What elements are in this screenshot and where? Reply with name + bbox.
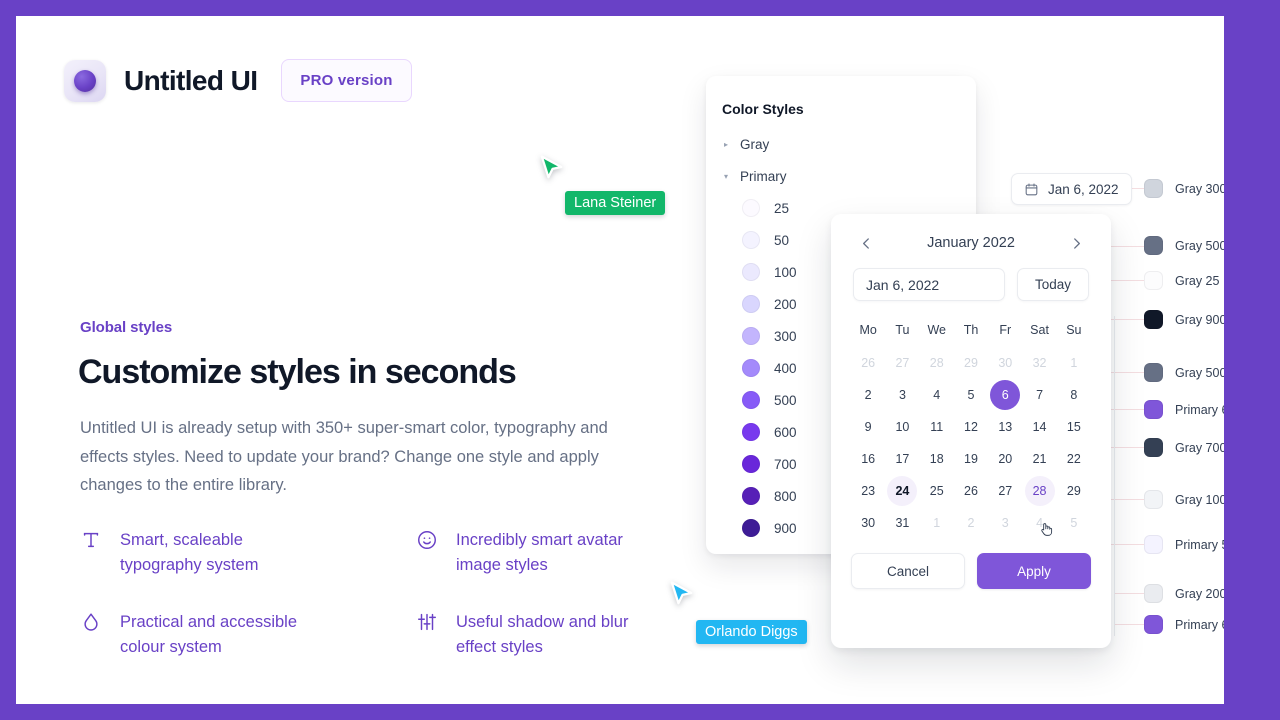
- swatch-color-dot: [742, 487, 760, 505]
- calendar-day-label: 24: [887, 476, 917, 506]
- calendar-day-cell[interactable]: 32: [1022, 347, 1056, 379]
- date-display-chip[interactable]: Jan 6, 2022: [1011, 173, 1132, 205]
- calendar-weekday: Mo: [851, 315, 885, 347]
- chevron-left-icon[interactable]: [855, 232, 877, 254]
- chevron-right-icon[interactable]: [1065, 232, 1087, 254]
- calendar-weeks: 2627282930321234567891011121314151617181…: [851, 347, 1091, 539]
- calendar-weekday: We: [920, 315, 954, 347]
- feature-item-avatar: Incredibly smart avatar image styles: [416, 528, 640, 578]
- calendar-day-cell[interactable]: 23: [851, 475, 885, 507]
- calendar-day-label: 29: [956, 348, 986, 378]
- legend-item[interactable]: Primary 50: [1144, 535, 1224, 554]
- calendar-day-cell[interactable]: 31: [885, 507, 919, 539]
- calendar-day-label: 21: [1025, 444, 1055, 474]
- collaborator-tag-orlando: Orlando Diggs: [696, 620, 807, 644]
- calendar-week-row: 303112345: [851, 507, 1091, 539]
- calendar-icon: [1024, 182, 1039, 197]
- swatch-label: 25: [774, 201, 789, 216]
- calendar-day-cell[interactable]: 12: [954, 411, 988, 443]
- legend-item[interactable]: Gray 500: [1144, 363, 1224, 382]
- calendar-day-cell[interactable]: 5: [954, 379, 988, 411]
- connector-line: [1114, 593, 1148, 594]
- swatch-color-dot: [742, 391, 760, 409]
- calendar-day-cell[interactable]: 19: [954, 443, 988, 475]
- calendar-day-cell[interactable]: 28: [1022, 475, 1056, 507]
- brand-name: Untitled UI: [124, 65, 257, 97]
- feature-item-typography: Smart, scaleable typography system: [80, 528, 416, 578]
- swatch-label: 800: [774, 489, 797, 504]
- calendar-day-label: 28: [922, 348, 952, 378]
- calendar-day-cell[interactable]: 29: [1057, 475, 1091, 507]
- calendar-day-label: 9: [853, 412, 883, 442]
- legend-item[interactable]: Gray 200: [1144, 584, 1224, 603]
- chevron-down-icon[interactable]: [718, 168, 734, 184]
- smiley-icon: [416, 529, 438, 551]
- brand-header: Untitled UI PRO version: [64, 59, 412, 102]
- calendar-day-label: 27: [990, 476, 1020, 506]
- legend-color-chip: [1144, 179, 1163, 198]
- apply-button[interactable]: Apply: [977, 553, 1091, 589]
- legend-label: Gray 500: [1175, 239, 1224, 253]
- legend-color-chip: [1144, 271, 1163, 290]
- droplet-icon: [80, 611, 102, 633]
- calendar-day-cell[interactable]: 1: [1057, 347, 1091, 379]
- legend-item[interactable]: Primary 600: [1144, 615, 1224, 634]
- calendar-weekday-row: MoTuWeThFrSatSu: [851, 315, 1091, 347]
- legend-color-chip: [1144, 310, 1163, 329]
- calendar-day-label: 15: [1059, 412, 1089, 442]
- swatch-color-dot: [742, 231, 760, 249]
- connector-line-vertical: [1114, 316, 1115, 636]
- swatch-color-dot: [742, 327, 760, 345]
- legend-color-chip: [1144, 490, 1163, 509]
- calendar-day-cell[interactable]: 30: [851, 507, 885, 539]
- swatch-color-dot: [742, 295, 760, 313]
- legend-color-chip: [1144, 584, 1163, 603]
- calendar-weekday: Sat: [1022, 315, 1056, 347]
- calendar-day-cell[interactable]: 11: [920, 411, 954, 443]
- calendar-day-label: 6: [990, 380, 1020, 410]
- calendar-day-label: 30: [853, 508, 883, 538]
- date-picker: January 2022 Jan 6, 2022 Today MoTuWeThF…: [831, 214, 1111, 648]
- calendar-day-cell[interactable]: 10: [885, 411, 919, 443]
- color-legend: Gray 300Gray 500Gray 25Gray 900Gray 500P…: [1144, 16, 1224, 704]
- swatch-label: 700: [774, 457, 797, 472]
- calendar-day-cell[interactable]: 27: [885, 347, 919, 379]
- calendar-day-label: 14: [1025, 412, 1055, 442]
- swatch-label: 900: [774, 521, 797, 536]
- sliders-icon: [416, 611, 438, 633]
- calendar-week-row: 2627282930321: [851, 347, 1091, 379]
- calendar-day-cell[interactable]: 21: [1022, 443, 1056, 475]
- legend-item[interactable]: Gray 500: [1144, 236, 1224, 255]
- legend-label: Gray 300: [1175, 182, 1224, 196]
- brand-logo-icon: [64, 60, 106, 102]
- calendar-day-label: 3: [887, 380, 917, 410]
- calendar-day-label: 4: [922, 380, 952, 410]
- legend-color-chip: [1144, 438, 1163, 457]
- feature-list: Smart, scaleable typography system Incre…: [80, 528, 640, 660]
- calendar-day-label: 19: [956, 444, 986, 474]
- calendar-day-cell[interactable]: 28: [920, 347, 954, 379]
- feature-label: Useful shadow and blur effect styles: [456, 610, 640, 660]
- calendar-day-label: 28: [1025, 476, 1055, 506]
- legend-color-chip: [1144, 535, 1163, 554]
- calendar-day-label: 7: [1025, 380, 1055, 410]
- calendar-input-row: Jan 6, 2022 Today: [831, 260, 1111, 301]
- swatch-color-dot: [742, 199, 760, 217]
- calendar-day-label: 18: [922, 444, 952, 474]
- cancel-button[interactable]: Cancel: [851, 553, 965, 589]
- calendar-day-cell[interactable]: 2: [954, 507, 988, 539]
- calendar-day-cell[interactable]: 18: [920, 443, 954, 475]
- calendar-day-label: 31: [887, 508, 917, 538]
- legend-color-chip: [1144, 615, 1163, 634]
- legend-label: Gray 700: [1175, 441, 1224, 455]
- swatch-label: 600: [774, 425, 797, 440]
- calendar-day-label: 17: [887, 444, 917, 474]
- legend-item[interactable]: Primary 600: [1144, 400, 1224, 419]
- calendar-day-cell[interactable]: 5: [1057, 507, 1091, 539]
- tree-group-gray[interactable]: Gray: [714, 128, 984, 160]
- calendar-day-label: 30: [990, 348, 1020, 378]
- calendar-week-row: 2345678: [851, 379, 1091, 411]
- pro-version-badge[interactable]: PRO version: [281, 59, 411, 102]
- chevron-right-icon[interactable]: [718, 136, 734, 152]
- calendar-week-row: 9101112131415: [851, 411, 1091, 443]
- legend-item[interactable]: Gray 100: [1144, 490, 1224, 509]
- calendar-day-label: 3: [990, 508, 1020, 538]
- legend-label: Gray 900: [1175, 313, 1224, 327]
- feature-item-effects: Useful shadow and blur effect styles: [416, 610, 640, 660]
- calendar-day-cell[interactable]: 8: [1057, 379, 1091, 411]
- calendar-weekday: Th: [954, 315, 988, 347]
- hero-body-text: Untitled UI is already setup with 350+ s…: [80, 414, 625, 500]
- tree-group-label: Gray: [740, 137, 769, 152]
- calendar-day-cell[interactable]: 7: [1022, 379, 1056, 411]
- legend-label: Gray 25: [1175, 274, 1219, 288]
- swatch-color-dot: [742, 455, 760, 473]
- calendar-day-label: 20: [990, 444, 1020, 474]
- calendar-day-label: 23: [853, 476, 883, 506]
- page-title: Customize styles in seconds: [78, 353, 698, 392]
- connector-line: [1114, 624, 1148, 625]
- calendar-day-label: 29: [1059, 476, 1089, 506]
- swatch-label: 400: [774, 361, 797, 376]
- calendar-day-label: 22: [1059, 444, 1089, 474]
- calendar-day-label: 16: [853, 444, 883, 474]
- legend-label: Gray 200: [1175, 587, 1224, 601]
- swatch-label: 200: [774, 297, 797, 312]
- legend-item[interactable]: Gray 25: [1144, 271, 1219, 290]
- calendar-day-cell[interactable]: 20: [988, 443, 1022, 475]
- swatch-color-dot: [742, 359, 760, 377]
- calendar-day-cell[interactable]: 16: [851, 443, 885, 475]
- legend-label: Gray 500: [1175, 366, 1224, 380]
- calendar-day-label: 11: [922, 412, 952, 442]
- swatch-label: 300: [774, 329, 797, 344]
- calendar-day-cell[interactable]: 30: [988, 347, 1022, 379]
- swatch-color-dot: [742, 263, 760, 281]
- swatch-color-dot: [742, 423, 760, 441]
- calendar-day-label: 5: [1059, 508, 1089, 538]
- panel-title: Color Styles: [722, 101, 804, 117]
- legend-item[interactable]: Gray 900: [1144, 310, 1224, 329]
- today-button[interactable]: Today: [1017, 268, 1089, 301]
- calendar-day-cell[interactable]: 13: [988, 411, 1022, 443]
- calendar-day-label: 1: [922, 508, 952, 538]
- calendar-day-cell[interactable]: 14: [1022, 411, 1056, 443]
- calendar-day-label: 27: [887, 348, 917, 378]
- calendar-day-cell[interactable]: 9: [851, 411, 885, 443]
- calendar-weekday: Fr: [988, 315, 1022, 347]
- calendar-month-label: January 2022: [927, 235, 1015, 251]
- app-canvas: Untitled UI PRO version Global styles Cu…: [16, 16, 1224, 704]
- calendar-actions: Cancel Apply: [831, 539, 1111, 589]
- swatch-label: 100: [774, 265, 797, 280]
- calendar-day-label: 2: [853, 380, 883, 410]
- calendar-day-cell[interactable]: 3: [988, 507, 1022, 539]
- calendar-day-label: 12: [956, 412, 986, 442]
- calendar-day-cell[interactable]: 17: [885, 443, 919, 475]
- calendar-day-cell[interactable]: 2: [851, 379, 885, 411]
- date-chip-value: Jan 6, 2022: [1048, 182, 1119, 197]
- feature-label: Practical and accessible colour system: [120, 610, 310, 660]
- legend-item[interactable]: Gray 300: [1144, 179, 1224, 198]
- legend-label: Primary 600: [1175, 403, 1224, 417]
- swatch-label: 50: [774, 233, 789, 248]
- calendar-day-label: 2: [956, 508, 986, 538]
- tree-group-label: Primary: [740, 169, 787, 184]
- calendar-day-cell[interactable]: 3: [885, 379, 919, 411]
- logo-dot: [74, 70, 96, 92]
- calendar-day-label: 5: [956, 380, 986, 410]
- calendar-day-cell[interactable]: 27: [988, 475, 1022, 507]
- tree-group-primary[interactable]: Primary: [714, 160, 984, 192]
- calendar-day-cell[interactable]: 6: [988, 379, 1022, 411]
- calendar-day-label: 26: [853, 348, 883, 378]
- eyebrow-label: Global styles: [80, 319, 172, 336]
- date-input[interactable]: Jan 6, 2022: [853, 268, 1005, 301]
- calendar-day-cell[interactable]: 29: [954, 347, 988, 379]
- legend-item[interactable]: Gray 700: [1144, 438, 1224, 457]
- calendar-day-label: 25: [922, 476, 952, 506]
- calendar-day-label: 8: [1059, 380, 1089, 410]
- calendar-day-cell[interactable]: 24: [885, 475, 919, 507]
- calendar-day-cell[interactable]: 22: [1057, 443, 1091, 475]
- calendar-weekday: Tu: [885, 315, 919, 347]
- calendar-day-label: 10: [887, 412, 917, 442]
- calendar-week-row: 16171819202122: [851, 443, 1091, 475]
- swatch-label: 500: [774, 393, 797, 408]
- legend-color-chip: [1144, 400, 1163, 419]
- legend-label: Primary 600: [1175, 618, 1224, 632]
- collaborator-cursor-lana: [534, 152, 568, 186]
- feature-item-colour: Practical and accessible colour system: [80, 610, 416, 660]
- calendar-day-cell[interactable]: 15: [1057, 411, 1091, 443]
- calendar-day-cell[interactable]: 25: [920, 475, 954, 507]
- calendar-day-cell[interactable]: 4: [920, 379, 954, 411]
- calendar-day-cell[interactable]: 1: [920, 507, 954, 539]
- legend-color-chip: [1144, 363, 1163, 382]
- type-icon: [80, 529, 102, 551]
- calendar-day-cell[interactable]: 26: [954, 475, 988, 507]
- calendar-week-row: 23242526272829: [851, 475, 1091, 507]
- calendar-day-label: 13: [990, 412, 1020, 442]
- calendar-day-cell[interactable]: 26: [851, 347, 885, 379]
- swatch-color-dot: [742, 519, 760, 537]
- hand-pointer-icon: [1038, 521, 1055, 538]
- calendar-header: January 2022: [831, 214, 1111, 260]
- feature-label: Incredibly smart avatar image styles: [456, 528, 640, 578]
- legend-label: Primary 50: [1175, 538, 1224, 552]
- calendar-day-label: 1: [1059, 348, 1089, 378]
- legend-label: Gray 100: [1175, 493, 1224, 507]
- collaborator-cursor-orlando: [664, 578, 698, 612]
- collaborator-tag-lana: Lana Steiner: [565, 191, 665, 215]
- calendar-day-label: 26: [956, 476, 986, 506]
- calendar-weekday: Su: [1057, 315, 1091, 347]
- calendar-grid: MoTuWeThFrSatSu 262728293032123456789101…: [831, 301, 1111, 539]
- calendar-day-label: 32: [1025, 348, 1055, 378]
- feature-label: Smart, scaleable typography system: [120, 528, 310, 578]
- legend-color-chip: [1144, 236, 1163, 255]
